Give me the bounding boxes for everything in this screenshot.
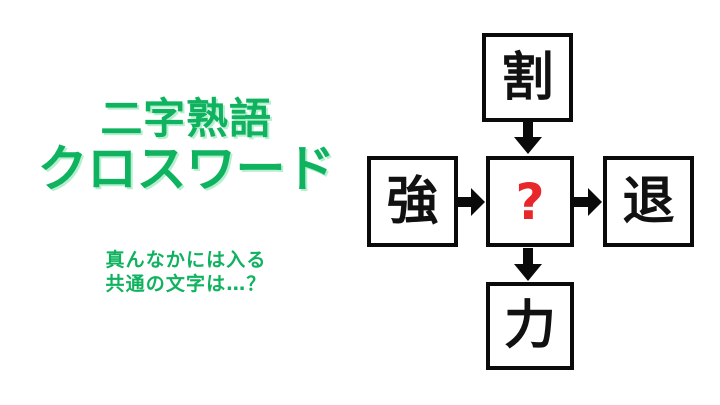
puzzle-cell-bottom-label: 力 xyxy=(504,300,556,352)
puzzle-cell-center-label: ? xyxy=(515,177,544,227)
puzzle-cell-bottom[interactable]: 力 xyxy=(486,282,574,370)
page-title-line-1: 二字熟語 xyxy=(0,98,372,140)
arrow-down-icon xyxy=(513,248,543,282)
arrow-right-icon xyxy=(456,187,486,217)
puzzle-slide: 二字熟語 クロスワード 真んなかには入る 共通の文字は…？ 割 強 ? 退 力 xyxy=(0,0,720,405)
page-title-line-2: クロスワード xyxy=(0,144,372,194)
arrow-right-icon xyxy=(573,187,603,217)
puzzle-cell-top-label: 割 xyxy=(501,52,553,104)
puzzle-cell-center-answer[interactable]: ? xyxy=(486,156,574,247)
subtitle-block: 真んなかには入る 共通の文字は…？ xyxy=(0,248,372,297)
headline-block: 二字熟語 クロスワード xyxy=(0,98,372,194)
puzzle-cell-left-label: 強 xyxy=(386,176,438,228)
puzzle-cell-top[interactable]: 割 xyxy=(482,33,573,122)
subtitle-line-2: 共通の文字は…？ xyxy=(0,272,372,296)
crossword-diagram: 割 強 ? 退 力 xyxy=(355,15,720,390)
puzzle-cell-right[interactable]: 退 xyxy=(603,156,694,247)
puzzle-cell-right-label: 退 xyxy=(622,176,674,228)
arrow-down-icon xyxy=(513,121,543,155)
subtitle-line-1: 真んなかには入る xyxy=(0,248,372,272)
puzzle-cell-left[interactable]: 強 xyxy=(367,156,458,247)
